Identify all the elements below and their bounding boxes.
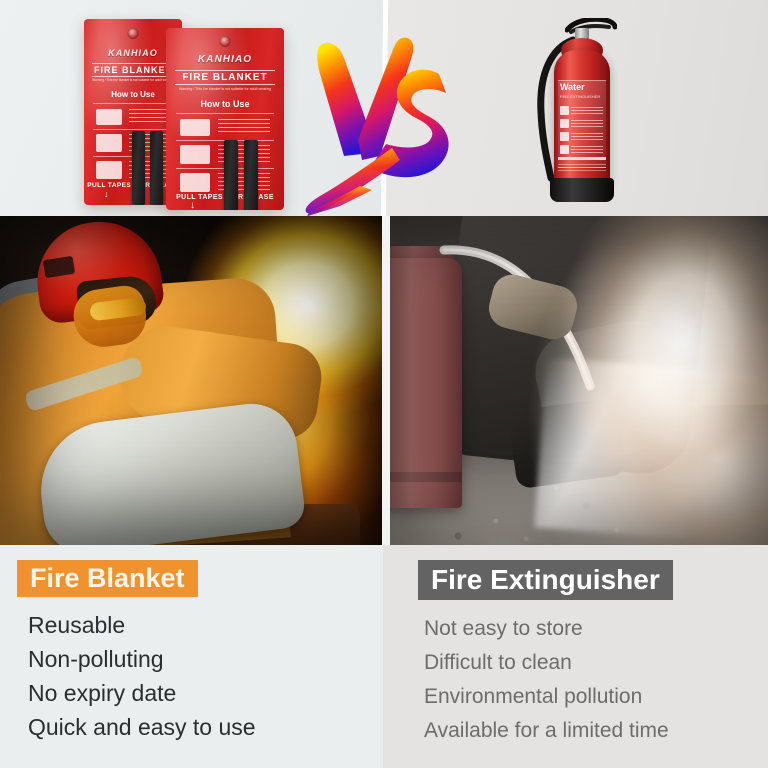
list-item: Available for a limited time [424,720,754,741]
pouch-hang-hole [220,36,231,47]
photo-band [0,216,768,545]
fire-extinguisher-photo [390,216,768,545]
pouch-strap-a [224,140,238,210]
extinguisher-type-label: Water [560,82,604,92]
extinguisher-subtitle-label: FIRE EXTINGUISHER [560,94,604,99]
pouch-brand-label: KANHIAO [166,54,284,65]
picto-text-1 [571,107,603,115]
fire-extinguisher-drawback-list: Not easy to store Difficult to clean Env… [424,618,754,754]
fire-blanket-photo [0,216,382,545]
extinguisher-lever-icon [565,18,617,34]
pouch-subtitle-label: Warning / This fire blanket is not suita… [92,79,174,83]
pouch-arrow-icon: ↓ [104,189,109,199]
pouch-step-icon-2 [180,145,210,164]
vs-graphic [300,36,465,216]
extinguisher-label-footer [558,164,606,172]
pouch-step-icon-3 [96,161,122,179]
pouch-strap-b [244,140,258,210]
photo-divider-gap [382,216,390,545]
extinguisher-pictogram-group [560,106,604,154]
pouch-strap-b [150,131,163,205]
fire-blanket-pouch-front: KANHIAO FIRE BLANKET Warning / This fire… [166,28,284,210]
picto-icon-3 [560,132,569,141]
pouch-strap-a [132,131,145,205]
photo-vignette [390,216,768,545]
picto-icon-1 [560,106,569,115]
fire-extinguisher-title: Fire Extinguisher [431,566,660,594]
picto-text-3 [571,133,603,141]
pouch-subtitle-label: Warning / This fire blanket is not suita… [175,87,274,91]
fire-blanket-title-badge: Fire Blanket [17,560,198,597]
picto-icon-2 [560,119,569,128]
list-item: No expiry date [28,682,358,705]
pouch-howto-heading: How to Use [166,99,284,109]
list-item: Reusable [28,614,358,637]
list-item: Not easy to store [424,618,754,639]
list-item: Difficult to clean [424,652,754,673]
fire-extinguisher-title-badge: Fire Extinguisher [418,560,673,600]
top-product-band: KANHIAO FIRE BLANKET Warning / This fire… [0,0,768,216]
fire-extinguisher-product: Water FIRE EXTINGUISHER [527,14,637,210]
picto-text-2 [571,120,603,128]
pouch-step-icon-1 [180,119,210,136]
product-comparison-infographic: KANHIAO FIRE BLANKET Warning / This fire… [0,0,768,768]
pouch-step-icon-2 [96,134,122,152]
picto-text-4 [571,146,603,154]
list-item: Environmental pollution [424,686,754,707]
pouch-step-text-1 [129,109,171,123]
picto-icon-4 [560,145,569,154]
extinguisher-base [550,178,614,202]
pouch-title-label: FIRE BLANKET [92,63,174,77]
pouch-step-text-1 [218,119,270,134]
list-item: Non-polluting [28,648,358,671]
pouch-rule-1 [93,103,173,104]
pouch-title-label: FIRE BLANKET [175,70,274,85]
list-item: Quick and easy to use [28,716,358,739]
pouch-rule-1 [176,113,274,114]
extinguisher-label-band [558,157,606,160]
photo-vignette [0,216,382,545]
pouch-step-icon-3 [180,173,210,192]
fire-blanket-feature-list: Reusable Non-polluting No expiry date Qu… [28,614,358,750]
pouch-hang-hole [128,28,139,39]
pouch-rule-2 [93,129,173,130]
fire-blanket-title: Fire Blanket [30,565,185,592]
pouch-step-icon-1 [96,109,122,125]
pouch-arrow-icon: ↓ [190,200,195,210]
